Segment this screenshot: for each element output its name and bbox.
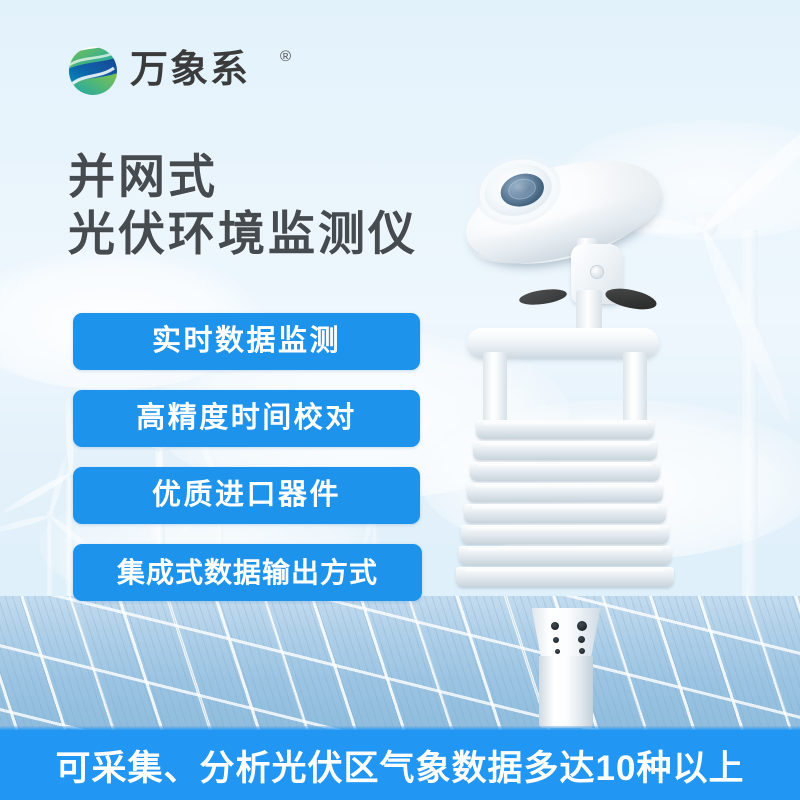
louver-plate — [473, 441, 657, 460]
feature-badge-imported-components[interactable]: 优质进口器件 — [73, 467, 420, 524]
globe-swirl-logo-icon — [66, 44, 120, 98]
feature-badge-integrated-output[interactable]: 集成式数据输出方式 — [73, 544, 422, 601]
bracket-post — [576, 290, 602, 332]
feature-badge-label: 集成式数据输出方式 — [117, 559, 378, 587]
louver-plate — [456, 567, 674, 587]
feature-badge-list: 实时数据监测 高精度时间校对 优质进口器件 集成式数据输出方式 — [73, 313, 433, 601]
base-cylinder — [539, 656, 593, 728]
headline-line-1: 并网式 — [68, 148, 498, 205]
brand-logo: 万象系 ® — [66, 40, 366, 102]
bottom-banner: 可采集、分析光伏区气象数据多达10种以上 — [0, 730, 800, 800]
vent-hole — [579, 648, 585, 654]
feature-badge-label: 优质进口器件 — [152, 481, 341, 510]
support-post-left — [483, 352, 507, 430]
feature-badge-time-calibration[interactable]: 高精度时间校对 — [73, 390, 420, 447]
brand-name: 万象系 — [130, 46, 250, 94]
feature-badge-realtime-monitoring[interactable]: 实时数据监测 — [73, 313, 420, 370]
vent-hole — [555, 649, 560, 654]
feature-badge-label: 高精度时间校对 — [136, 404, 357, 433]
base-taper — [525, 608, 607, 660]
vent-hole — [553, 637, 559, 643]
louver-plate — [464, 504, 666, 523]
vane-right — [604, 285, 659, 313]
vent-hole — [577, 621, 587, 631]
bracket-bolt — [591, 266, 603, 278]
louver-plate — [459, 546, 672, 565]
feature-badge-label: 实时数据监测 — [152, 327, 341, 356]
vent-hole — [578, 636, 585, 643]
louver-plate — [470, 462, 660, 481]
registered-trademark-icon: ® — [280, 48, 291, 65]
vent-hole — [551, 622, 559, 630]
page-title: 并网式 光伏环境监测仪 — [68, 148, 498, 262]
headline-line-2: 光伏环境监测仪 — [68, 205, 498, 262]
louver-plate — [461, 525, 669, 544]
bottom-banner-text: 可采集、分析光伏区气象数据多达10种以上 — [56, 740, 745, 791]
louver-plate — [476, 420, 654, 439]
support-post-right — [623, 352, 647, 430]
louver-plate — [467, 483, 663, 502]
louvered-radiation-shield — [455, 420, 675, 620]
